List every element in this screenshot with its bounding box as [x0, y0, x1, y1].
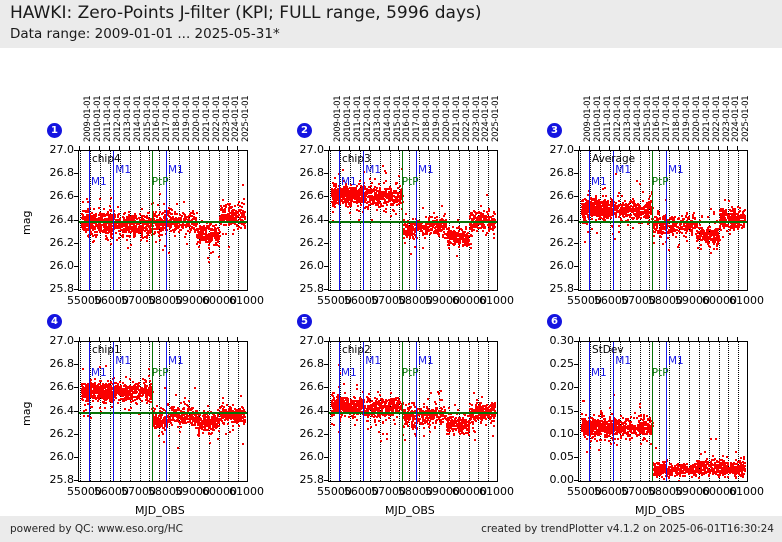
data-point [582, 214, 584, 216]
data-point [149, 230, 151, 232]
data-point [344, 193, 346, 195]
data-point [240, 209, 242, 211]
data-point [388, 191, 390, 193]
data-point [697, 239, 699, 241]
data-point [146, 240, 148, 242]
data-point [449, 233, 451, 235]
y-tick-mark [74, 150, 78, 151]
data-point [716, 245, 718, 247]
data-point [657, 231, 659, 233]
data-point [146, 235, 148, 237]
top-tick-label: 2012-01-01 [363, 96, 373, 142]
data-point [147, 217, 149, 219]
top-tick-mark [139, 146, 140, 150]
data-point [369, 199, 371, 201]
data-point [461, 229, 463, 231]
data-point [371, 182, 373, 184]
y-tick-label: 27.0 [288, 143, 324, 156]
top-tick-label: 2014-01-01 [383, 96, 393, 142]
data-point [375, 204, 377, 206]
data-point [466, 237, 468, 239]
data-point [215, 224, 217, 226]
data-point [716, 248, 718, 250]
data-point [158, 235, 160, 237]
data-point [333, 200, 335, 202]
data-point [386, 204, 388, 206]
data-point [125, 223, 127, 225]
data-point [190, 212, 192, 214]
data-point [100, 215, 102, 217]
y-tick-mark [574, 266, 578, 267]
data-point [713, 213, 715, 215]
data-point [110, 236, 112, 238]
data-point [368, 191, 370, 193]
data-point [374, 195, 376, 197]
data-point [178, 225, 180, 227]
data-point [662, 243, 664, 245]
data-point [601, 201, 603, 203]
data-point [483, 215, 485, 217]
top-tick-mark [369, 146, 370, 150]
data-point [404, 242, 406, 244]
data-point [350, 192, 352, 194]
data-point [728, 200, 730, 202]
data-point [342, 202, 344, 204]
data-point [605, 212, 607, 214]
top-tick-mark [208, 146, 209, 150]
y-tick-label: 26.8 [538, 166, 574, 179]
data-point [385, 172, 387, 174]
data-point [228, 246, 230, 248]
top-tick-label: 2025-01-01 [491, 96, 501, 142]
plot-frame-chip3 [328, 150, 498, 291]
data-point [598, 199, 600, 201]
y-tick-label: 26.2 [288, 236, 324, 249]
data-point [243, 203, 245, 205]
data-point [616, 209, 618, 211]
data-point [713, 248, 715, 250]
data-point [207, 257, 209, 259]
data-point [697, 247, 699, 249]
data-point [723, 227, 725, 229]
top-tick-mark [639, 146, 640, 150]
panel-badge-2: 2 [297, 123, 312, 138]
data-point [426, 232, 428, 234]
data-point [231, 206, 233, 208]
data-point [625, 207, 627, 209]
data-point [737, 228, 739, 230]
data-point [208, 261, 210, 263]
data-point [384, 199, 386, 201]
top-tick-label: 2020-01-01 [192, 96, 202, 142]
data-point [739, 207, 741, 209]
data-point [656, 226, 658, 228]
data-point [581, 210, 583, 212]
data-point [379, 202, 381, 204]
data-point [441, 205, 443, 207]
data-point [334, 177, 336, 179]
data-point [385, 208, 387, 210]
x-tick-label: 61000 [729, 294, 764, 307]
data-point [186, 225, 188, 227]
data-point [431, 216, 433, 218]
data-point [218, 237, 220, 239]
data-point [470, 247, 472, 249]
data-point [409, 237, 411, 239]
data-point [98, 227, 100, 229]
data-point [433, 232, 435, 234]
data-point [458, 246, 460, 248]
data-point [722, 236, 724, 238]
data-point [493, 237, 495, 239]
data-point [681, 215, 683, 217]
data-point [599, 207, 601, 209]
data-point [126, 216, 128, 218]
data-point [453, 238, 455, 240]
data-point [731, 206, 733, 208]
data-point [157, 204, 159, 206]
data-point [634, 208, 636, 210]
data-point [376, 209, 378, 211]
data-point [163, 216, 165, 218]
data-point [392, 204, 394, 206]
data-point [480, 205, 482, 207]
data-point [98, 207, 100, 209]
marker-label-ptp: PtP [652, 176, 669, 188]
top-tick-label: 2023-01-01 [222, 96, 232, 142]
data-point [395, 201, 397, 203]
data-point [713, 239, 715, 241]
data-point [653, 242, 655, 244]
data-point [438, 226, 440, 228]
data-point [422, 225, 424, 227]
top-tick-label: 2020-01-01 [692, 96, 702, 142]
data-point [730, 210, 732, 212]
top-tick-mark [79, 146, 80, 150]
data-point [143, 215, 145, 217]
data-point [700, 231, 702, 233]
data-point [128, 228, 130, 230]
data-point [94, 228, 96, 230]
data-point [332, 211, 334, 213]
data-point [594, 198, 596, 200]
marker-label-m1: M1 [341, 176, 357, 188]
data-point [198, 228, 200, 230]
data-point [618, 200, 620, 202]
data-point [722, 208, 724, 210]
data-point [596, 205, 598, 207]
data-point [483, 210, 485, 212]
top-tick-label: 2024-01-01 [481, 96, 491, 142]
data-point [176, 225, 178, 227]
data-point [591, 204, 593, 206]
data-point [232, 233, 234, 235]
data-point [92, 215, 94, 217]
data-point [492, 226, 494, 228]
data-point [462, 244, 464, 246]
data-point [660, 231, 662, 233]
top-tick-mark [129, 146, 130, 150]
data-point [599, 216, 601, 218]
data-point [83, 415, 85, 417]
data-point [82, 368, 84, 370]
data-point [673, 223, 675, 225]
data-point [705, 240, 707, 242]
data-point [390, 188, 392, 190]
data-point [407, 228, 409, 230]
data-point [170, 226, 172, 228]
reference-line [329, 221, 497, 223]
data-point [162, 229, 164, 231]
data-point [602, 195, 604, 197]
y-tick-mark [74, 220, 78, 221]
data-point [436, 216, 438, 218]
data-point [360, 185, 362, 187]
top-tick-mark [349, 146, 350, 150]
data-point [219, 231, 221, 233]
marker-label-ptp: PtP [402, 176, 419, 188]
data-point [696, 235, 698, 237]
data-point [141, 232, 143, 234]
data-point [202, 238, 204, 240]
top-tick-mark [698, 146, 699, 150]
data-point [134, 235, 136, 237]
data-point [744, 209, 746, 211]
data-point [159, 239, 161, 241]
data-point [631, 211, 633, 213]
data-point [696, 226, 698, 228]
data-point [385, 202, 387, 204]
data-point [155, 241, 157, 243]
data-point [379, 206, 381, 208]
data-point [624, 200, 626, 202]
top-tick-mark [589, 146, 590, 150]
top-tick-label: 2022-01-01 [712, 96, 722, 142]
data-point [382, 205, 384, 207]
y-tick-label: 26.0 [288, 259, 324, 272]
data-point [621, 195, 623, 197]
data-point [471, 212, 473, 214]
data-point [727, 225, 729, 227]
top-tick-mark [227, 146, 228, 150]
top-tick-label: 2016-01-01 [652, 96, 662, 142]
data-point [627, 210, 629, 212]
data-point [197, 237, 199, 239]
data-point [471, 235, 473, 237]
data-point [475, 217, 477, 219]
data-point [176, 203, 178, 205]
data-point [139, 213, 141, 215]
data-point [430, 229, 432, 231]
y-tick-label: 27.0 [38, 143, 74, 156]
data-point [110, 243, 112, 245]
data-point [128, 211, 130, 213]
y-tick-mark [574, 196, 578, 197]
page-title: HAWKI: Zero-Points J-filter (KPI; FULL r… [10, 3, 482, 23]
data-point [672, 233, 674, 235]
top-tick-label: 2011-01-01 [353, 96, 363, 142]
top-tick-label: 2022-01-01 [462, 96, 472, 142]
data-point [595, 210, 597, 212]
data-point [144, 236, 146, 238]
data-point [193, 224, 195, 226]
top-tick-label: 2025-01-01 [741, 96, 751, 142]
data-point [90, 227, 92, 229]
data-point [138, 223, 140, 225]
data-point [354, 193, 356, 195]
data-point [707, 240, 709, 242]
top-tick-mark [668, 146, 669, 150]
data-point [117, 206, 119, 208]
data-point [634, 203, 636, 205]
data-point [399, 192, 401, 194]
data-point [210, 238, 212, 240]
data-point [208, 244, 210, 246]
marker-line-m1 [416, 151, 417, 290]
top-tick-label: 2009-01-01 [333, 96, 343, 142]
data-point [225, 233, 227, 235]
data-point [412, 237, 414, 239]
top-tick-label: 2020-01-01 [442, 96, 452, 142]
data-point [111, 237, 113, 239]
data-point [357, 194, 359, 196]
data-point [224, 211, 226, 213]
data-point [347, 189, 349, 191]
data-point [620, 204, 622, 206]
data-point [129, 236, 131, 238]
data-point [619, 212, 621, 214]
data-point [663, 228, 665, 230]
y-tick-mark [74, 196, 78, 197]
data-point [86, 389, 88, 391]
data-point [103, 224, 105, 226]
data-point [227, 203, 229, 205]
data-point [739, 210, 741, 212]
data-point [234, 223, 236, 225]
data-point [632, 227, 634, 229]
data-point [369, 201, 371, 203]
data-point [183, 213, 185, 215]
top-tick-mark [609, 146, 610, 150]
data-point [208, 228, 210, 230]
data-point [387, 201, 389, 203]
data-point [691, 233, 693, 235]
data-point [141, 208, 143, 210]
data-point [347, 201, 349, 203]
top-tick-label: 2022-01-01 [212, 96, 222, 142]
data-point [145, 229, 147, 231]
data-point [216, 232, 218, 234]
data-point [140, 239, 142, 241]
y-tick-mark [324, 150, 328, 151]
data-point [447, 233, 449, 235]
y-tick-mark [324, 173, 328, 174]
data-point [220, 223, 222, 225]
data-point [476, 226, 478, 228]
data-point [196, 212, 198, 214]
data-point [716, 239, 718, 241]
data-point [592, 214, 594, 216]
data-point [192, 212, 194, 214]
data-point [464, 244, 466, 246]
data-point [615, 216, 617, 218]
data-point [623, 211, 625, 213]
data-point [82, 383, 84, 385]
data-point [699, 224, 701, 226]
data-point [132, 217, 134, 219]
top-tick-label: 2025-01-01 [241, 96, 251, 142]
top-tick-label: 2017-01-01 [412, 96, 422, 142]
data-point [242, 184, 244, 186]
data-point [704, 232, 706, 234]
data-point [724, 225, 726, 227]
data-point [194, 231, 196, 233]
data-point [604, 209, 606, 211]
data-point [146, 215, 148, 217]
marker-label-m1: M1 [91, 176, 107, 188]
data-point [442, 236, 444, 238]
data-point [360, 200, 362, 202]
top-tick-mark [688, 146, 689, 150]
data-point [190, 229, 192, 231]
data-point [686, 212, 688, 214]
top-tick-mark [218, 146, 219, 150]
top-tick-mark [168, 146, 169, 150]
data-point [599, 203, 601, 205]
data-point [729, 229, 731, 231]
data-point [718, 240, 720, 242]
data-point [385, 192, 387, 194]
data-point [173, 231, 175, 233]
data-point [233, 229, 235, 231]
y-tick-mark [74, 289, 78, 290]
data-point [386, 188, 388, 190]
data-point [719, 225, 721, 227]
data-point [373, 200, 375, 202]
data-point [372, 203, 374, 205]
top-tick-label: 2024-01-01 [731, 96, 741, 142]
data-point [205, 228, 207, 230]
data-point [116, 239, 118, 241]
data-point [383, 182, 385, 184]
data-point [127, 247, 129, 249]
data-point [447, 237, 449, 239]
marker-label-m1: M1 [115, 164, 131, 176]
data-point [355, 198, 357, 200]
data-point [405, 232, 407, 234]
data-point [126, 235, 128, 237]
data-point [122, 234, 124, 236]
data-point [178, 231, 180, 233]
data-point [96, 231, 98, 233]
data-point [369, 178, 371, 180]
top-tick-mark [468, 146, 469, 150]
data-point [742, 214, 744, 216]
data-point [482, 230, 484, 232]
marker-label-m1: M1 [168, 164, 184, 176]
data-point [117, 214, 119, 216]
data-point [437, 224, 439, 226]
data-point [591, 199, 593, 201]
data-point [183, 201, 185, 203]
y-tick-label: 26.4 [538, 213, 574, 226]
data-point [398, 175, 400, 177]
data-point [614, 206, 616, 208]
data-point [730, 216, 732, 218]
y-tick-label: 26.6 [288, 189, 324, 202]
data-point [707, 216, 709, 218]
data-point [91, 233, 93, 235]
